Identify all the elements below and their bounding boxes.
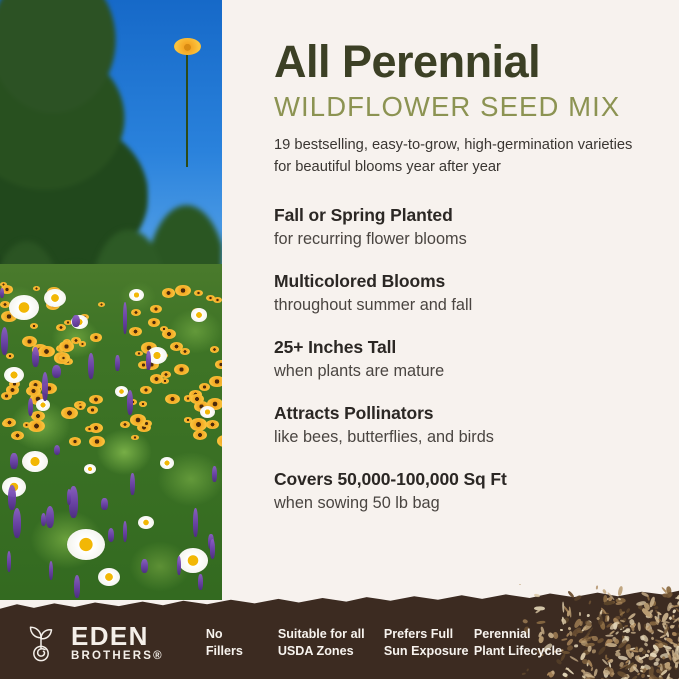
feature-badges: No Fillers Suitable for all USDA Zones P… [206, 626, 584, 660]
seed-particle [534, 593, 540, 597]
feature-subtext: for recurring flower blooms [274, 229, 649, 250]
brand-wordmark: EDEN BROTHERS® [71, 623, 164, 663]
seed-particle [588, 600, 591, 604]
feature-subtext: like bees, butterflies, and birds [274, 427, 649, 448]
purple-flower [108, 528, 115, 541]
feature-item: Covers 50,000-100,000 Sq Ft when sowing … [274, 468, 649, 514]
purple-flower [28, 398, 33, 416]
purple-flower [32, 347, 39, 367]
purple-flower [46, 506, 55, 527]
purple-flower [123, 302, 127, 334]
seed-particle [603, 600, 613, 606]
feature-heading: Multicolored Blooms [274, 270, 649, 293]
purple-flower [10, 453, 17, 469]
feature-list: Fall or Spring Planted for recurring flo… [274, 204, 649, 514]
wildflower-meadow-photo [0, 0, 222, 600]
purple-flower [123, 521, 127, 542]
seed-particle [519, 584, 521, 586]
seed-particle [595, 585, 598, 589]
tall-yellow-bloom [174, 38, 201, 55]
purple-flower [0, 288, 4, 298]
badge-plant-lifecycle: Perennial Plant Lifecycle [474, 626, 584, 660]
brand-name-primary: EDEN [71, 623, 164, 649]
eden-brothers-logo[interactable]: EDEN BROTHERS® [20, 622, 164, 664]
seedling-sprout-icon [20, 622, 62, 664]
purple-flower [42, 372, 48, 400]
purple-flower [141, 559, 148, 573]
purple-flower [49, 561, 53, 580]
purple-flower [67, 489, 72, 505]
purple-flower [198, 574, 203, 590]
feature-subtext: when sowing 50 lb bag [274, 493, 649, 514]
brand-name-secondary: BROTHERS® [71, 651, 164, 663]
feature-item: Fall or Spring Planted for recurring flo… [274, 204, 649, 250]
purple-flower [7, 551, 12, 572]
purple-flower [193, 508, 198, 537]
purple-flowers-layer [0, 288, 222, 600]
product-description: 19 bestselling, easy-to-grow, high-germi… [274, 135, 634, 178]
seed-particle [616, 601, 623, 605]
purple-flower [127, 390, 133, 415]
purple-flower [115, 355, 120, 371]
purple-flower [8, 485, 16, 510]
purple-flower [88, 353, 94, 379]
purple-flower [1, 327, 9, 356]
purple-flower [41, 513, 47, 527]
feature-heading: Attracts Pollinators [274, 402, 649, 425]
product-info-card: All Perennial WILDFLOWER SEED MIX 19 bes… [0, 0, 679, 679]
tall-flower-stem [186, 49, 188, 167]
brand-footer: EDEN BROTHERS® No Fillers Suitable for a… [0, 589, 679, 679]
seed-particle [574, 594, 583, 602]
purple-flower [13, 508, 21, 539]
purple-flower [177, 556, 181, 575]
feature-subtext: when plants are mature [274, 361, 649, 382]
footer-content: EDEN BROTHERS® No Fillers Suitable for a… [0, 607, 679, 679]
feature-heading: Fall or Spring Planted [274, 204, 649, 227]
product-subtitle: WILDFLOWER SEED MIX [274, 91, 649, 123]
badge-sun-exposure: Prefers Full Sun Exposure [384, 626, 474, 660]
badge-no-fillers: No Fillers [206, 626, 278, 660]
feature-heading: 25+ Inches Tall [274, 336, 649, 359]
seed-particle [617, 586, 623, 597]
purple-flower [130, 473, 135, 495]
feature-heading: Covers 50,000-100,000 Sq Ft [274, 468, 649, 491]
purple-flower [101, 498, 107, 509]
product-title: All Perennial [274, 38, 649, 87]
feature-item: 25+ Inches Tall when plants are mature [274, 336, 649, 382]
feature-item: Attracts Pollinators like bees, butterfl… [274, 402, 649, 448]
purple-flower [212, 466, 217, 482]
badge-usda-zones: Suitable for all USDA Zones [278, 626, 384, 660]
feature-item: Multicolored Blooms throughout summer an… [274, 270, 649, 316]
content-panel: All Perennial WILDFLOWER SEED MIX 19 bes… [228, 0, 679, 600]
purple-flower [52, 365, 61, 379]
feature-subtext: throughout summer and fall [274, 295, 649, 316]
purple-flower [210, 539, 216, 559]
purple-flower [54, 445, 60, 455]
purple-flower [146, 351, 151, 369]
purple-flower [72, 315, 80, 328]
